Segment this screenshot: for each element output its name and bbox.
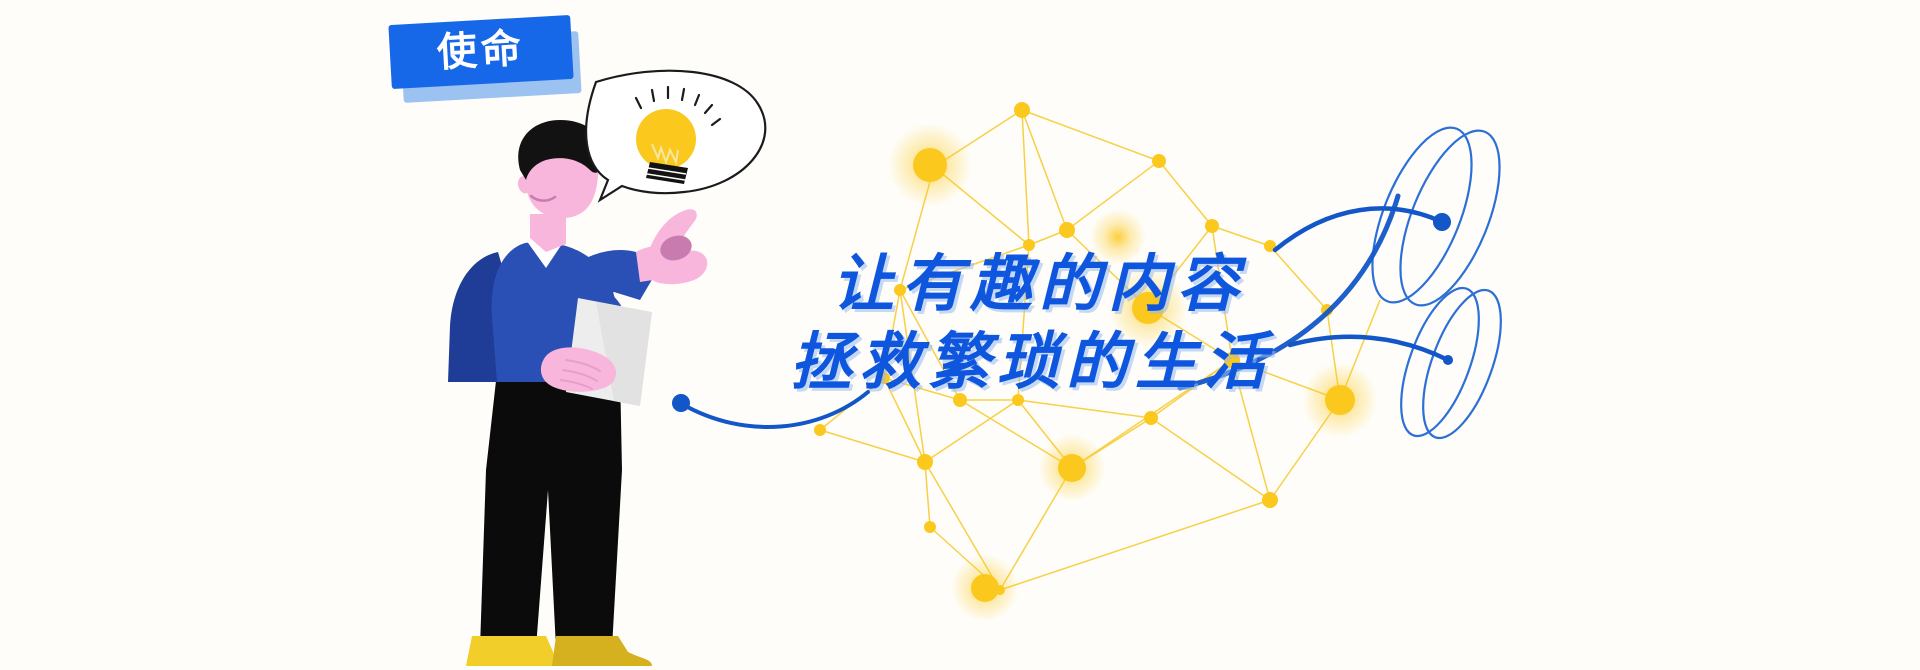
idea-lightbulb-bubble [0,0,1920,670]
mission-banner: 让有趣的内容 拯救繁琐的生活 使命 [0,0,1920,670]
